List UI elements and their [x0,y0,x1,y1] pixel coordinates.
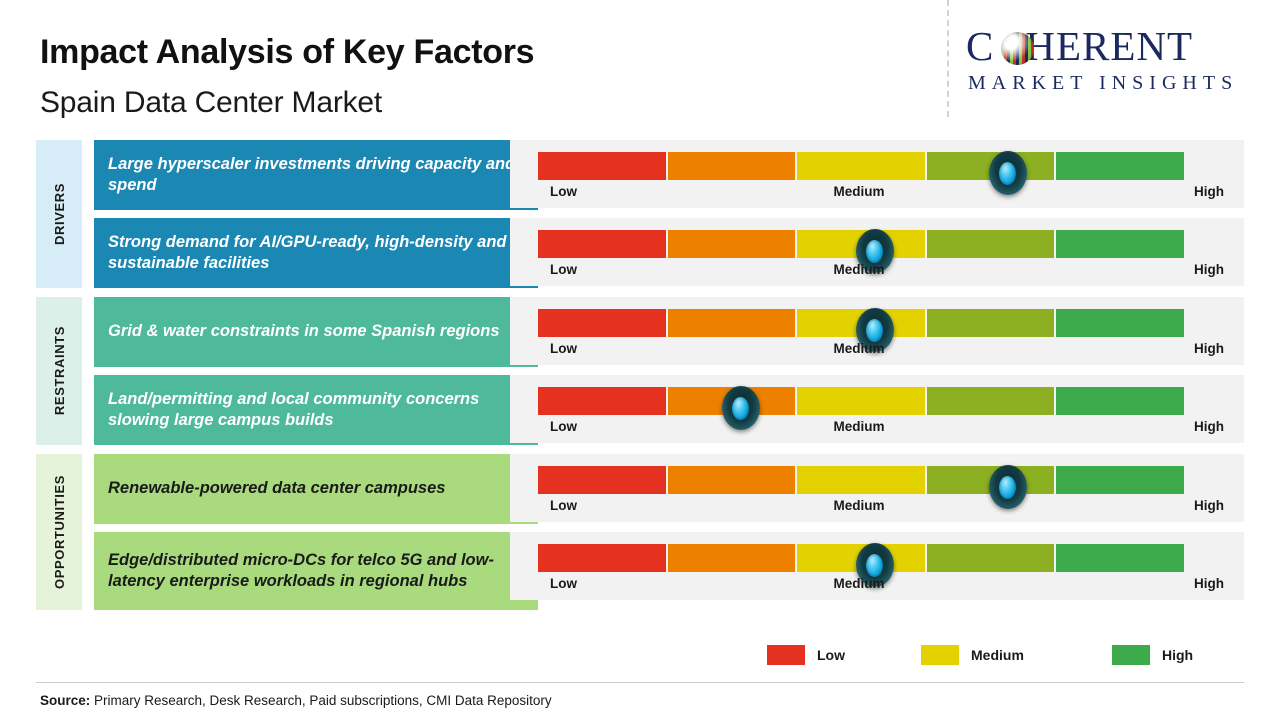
gauge-segment-2 [797,152,925,180]
impact-marker-core [999,162,1016,185]
gauge-scale-label-low: Low [550,262,577,277]
legend-swatch [921,645,959,665]
dotted-globe-icon [1001,32,1034,65]
gauge-scale-label-medium: Medium [833,262,884,277]
factor-statement-text: Grid & water constraints in some Spanish… [108,321,500,342]
impact-marker-core [866,240,883,263]
gauge-segment-3 [927,309,1055,337]
gauge-segment-0 [538,466,666,494]
legend-label: Medium [971,647,1024,663]
category-tab-restraints[interactable]: RESTRAINTS [36,297,82,445]
category-rail: DRIVERSRESTRAINTSOPPORTUNITIES [36,140,82,610]
category-tab-label: DRIVERS [52,183,67,245]
category-tab-drivers[interactable]: DRIVERS [36,140,82,288]
impact-marker-core [866,554,883,577]
impact-gauge-row: LowMediumHigh [510,532,1244,600]
coherent-market-insights-logo: CHERENT MARKET INSIGHTS [966,22,1264,104]
category-tab-label: RESTRAINTS [52,326,67,415]
impact-gauge-row: LowMediumHigh [510,297,1244,365]
slide-root: Impact Analysis of Key Factors Spain Dat… [0,0,1280,720]
source-text: Primary Research, Desk Research, Paid su… [90,693,551,708]
gauge-segment-4 [1056,544,1184,572]
gauge-segment-1 [668,466,796,494]
gauge-scale: LowMediumHigh [538,341,1224,361]
gauge-segment-1 [668,152,796,180]
factor-statement-card[interactable]: Large hyperscaler investments driving ca… [94,140,538,210]
gauge-column: LowMediumHighLowMediumHighLowMediumHighL… [510,140,1244,610]
gauge-scale-label-high: High [1194,419,1224,434]
gauge-scale: LowMediumHigh [538,419,1224,439]
gauge-segment-1 [668,230,796,258]
factor-statement-text: Edge/distributed micro-DCs for telco 5G … [108,550,524,592]
gauge-segment-1 [668,309,796,337]
gauge-scale-label-medium: Medium [833,341,884,356]
gauge-scale-label-low: Low [550,498,577,513]
impact-gauge-row: LowMediumHigh [510,375,1244,443]
gauge-segment-2 [797,387,925,415]
factor-statement-text: Renewable-powered data center campuses [108,478,445,499]
factor-statement-text: Strong demand for AI/GPU-ready, high-den… [108,232,524,274]
logo-brand-rest: HERENT [1025,23,1193,69]
legend-swatch [1112,645,1150,665]
gauge-scale-label-high: High [1194,341,1224,356]
impact-gauge-row: LowMediumHigh [510,454,1244,522]
category-tab-opportunities[interactable]: OPPORTUNITIES [36,454,82,610]
impact-marker-core [999,476,1016,499]
impact-matrix: DRIVERSRESTRAINTSOPPORTUNITIES Large hyp… [36,140,1244,610]
impact-gauge-bar[interactable] [538,387,1186,415]
gauge-scale-label-high: High [1194,576,1224,591]
category-tab-label: OPPORTUNITIES [52,475,67,589]
gauge-scale-label-low: Low [550,341,577,356]
source-note: Source: Primary Research, Desk Research,… [40,693,552,708]
impact-legend: LowMediumHigh [767,645,1197,669]
impact-gauge-row: LowMediumHigh [510,218,1244,286]
factor-statement-card[interactable]: Renewable-powered data center campuses [94,454,538,524]
gauge-segment-2 [797,466,925,494]
gauge-scale-label-medium: Medium [833,576,884,591]
legend-label: Low [817,647,845,663]
impact-gauge-bar[interactable] [538,230,1186,258]
gauge-scale: LowMediumHigh [538,498,1224,518]
impact-marker-core [866,319,883,342]
gauge-scale-label-low: Low [550,184,577,199]
factor-statement-card[interactable]: Edge/distributed micro-DCs for telco 5G … [94,532,538,610]
legend-swatch [767,645,805,665]
gauge-segment-4 [1056,387,1184,415]
logo-tagline: MARKET INSIGHTS [968,72,1238,95]
gauge-scale-label-medium: Medium [833,419,884,434]
gauge-scale-label-medium: Medium [833,184,884,199]
page-title: Impact Analysis of Key Factors [40,33,534,72]
gauge-segment-4 [1056,466,1184,494]
gauge-scale-label-low: Low [550,419,577,434]
gauge-segment-0 [538,152,666,180]
gauge-segment-4 [1056,230,1184,258]
factor-statement-card[interactable]: Land/permitting and local community conc… [94,375,538,445]
legend-item-low[interactable]: Low [767,645,845,665]
factor-statement-text: Land/permitting and local community conc… [108,389,524,431]
statement-column: Large hyperscaler investments driving ca… [94,140,538,610]
gauge-segment-3 [927,387,1055,415]
gauge-segment-0 [538,387,666,415]
header-dashed-divider [947,0,949,117]
gauge-scale-label-high: High [1194,498,1224,513]
source-label: Source: [40,693,90,708]
impact-marker-core [732,397,749,420]
impact-gauge-bar[interactable] [538,466,1186,494]
logo-letter-c: C [966,23,994,69]
gauge-segment-3 [927,230,1055,258]
page-subtitle: Spain Data Center Market [40,86,382,120]
impact-gauge-bar[interactable] [538,544,1186,572]
legend-item-high[interactable]: High [1112,645,1193,665]
gauge-scale-label-low: Low [550,576,577,591]
gauge-scale: LowMediumHigh [538,262,1224,282]
impact-gauge-bar[interactable] [538,309,1186,337]
gauge-scale: LowMediumHigh [538,184,1224,204]
gauge-segment-4 [1056,152,1184,180]
factor-statement-card[interactable]: Strong demand for AI/GPU-ready, high-den… [94,218,538,288]
impact-gauge-bar[interactable] [538,152,1186,180]
gauge-scale: LowMediumHigh [538,576,1224,596]
gauge-scale-label-high: High [1194,262,1224,277]
gauge-segment-4 [1056,309,1184,337]
factor-statement-text: Large hyperscaler investments driving ca… [108,154,524,196]
gauge-segment-0 [538,230,666,258]
factor-statement-card[interactable]: Grid & water constraints in some Spanish… [94,297,538,367]
gauge-segment-0 [538,544,666,572]
gauge-scale-label-medium: Medium [833,498,884,513]
legend-label: High [1162,647,1193,663]
legend-item-medium[interactable]: Medium [921,645,1024,665]
gauge-scale-label-high: High [1194,184,1224,199]
impact-gauge-row: LowMediumHigh [510,140,1244,208]
gauge-segment-0 [538,309,666,337]
gauge-segment-3 [927,544,1055,572]
gauge-segment-1 [668,544,796,572]
footer-divider [36,682,1244,683]
